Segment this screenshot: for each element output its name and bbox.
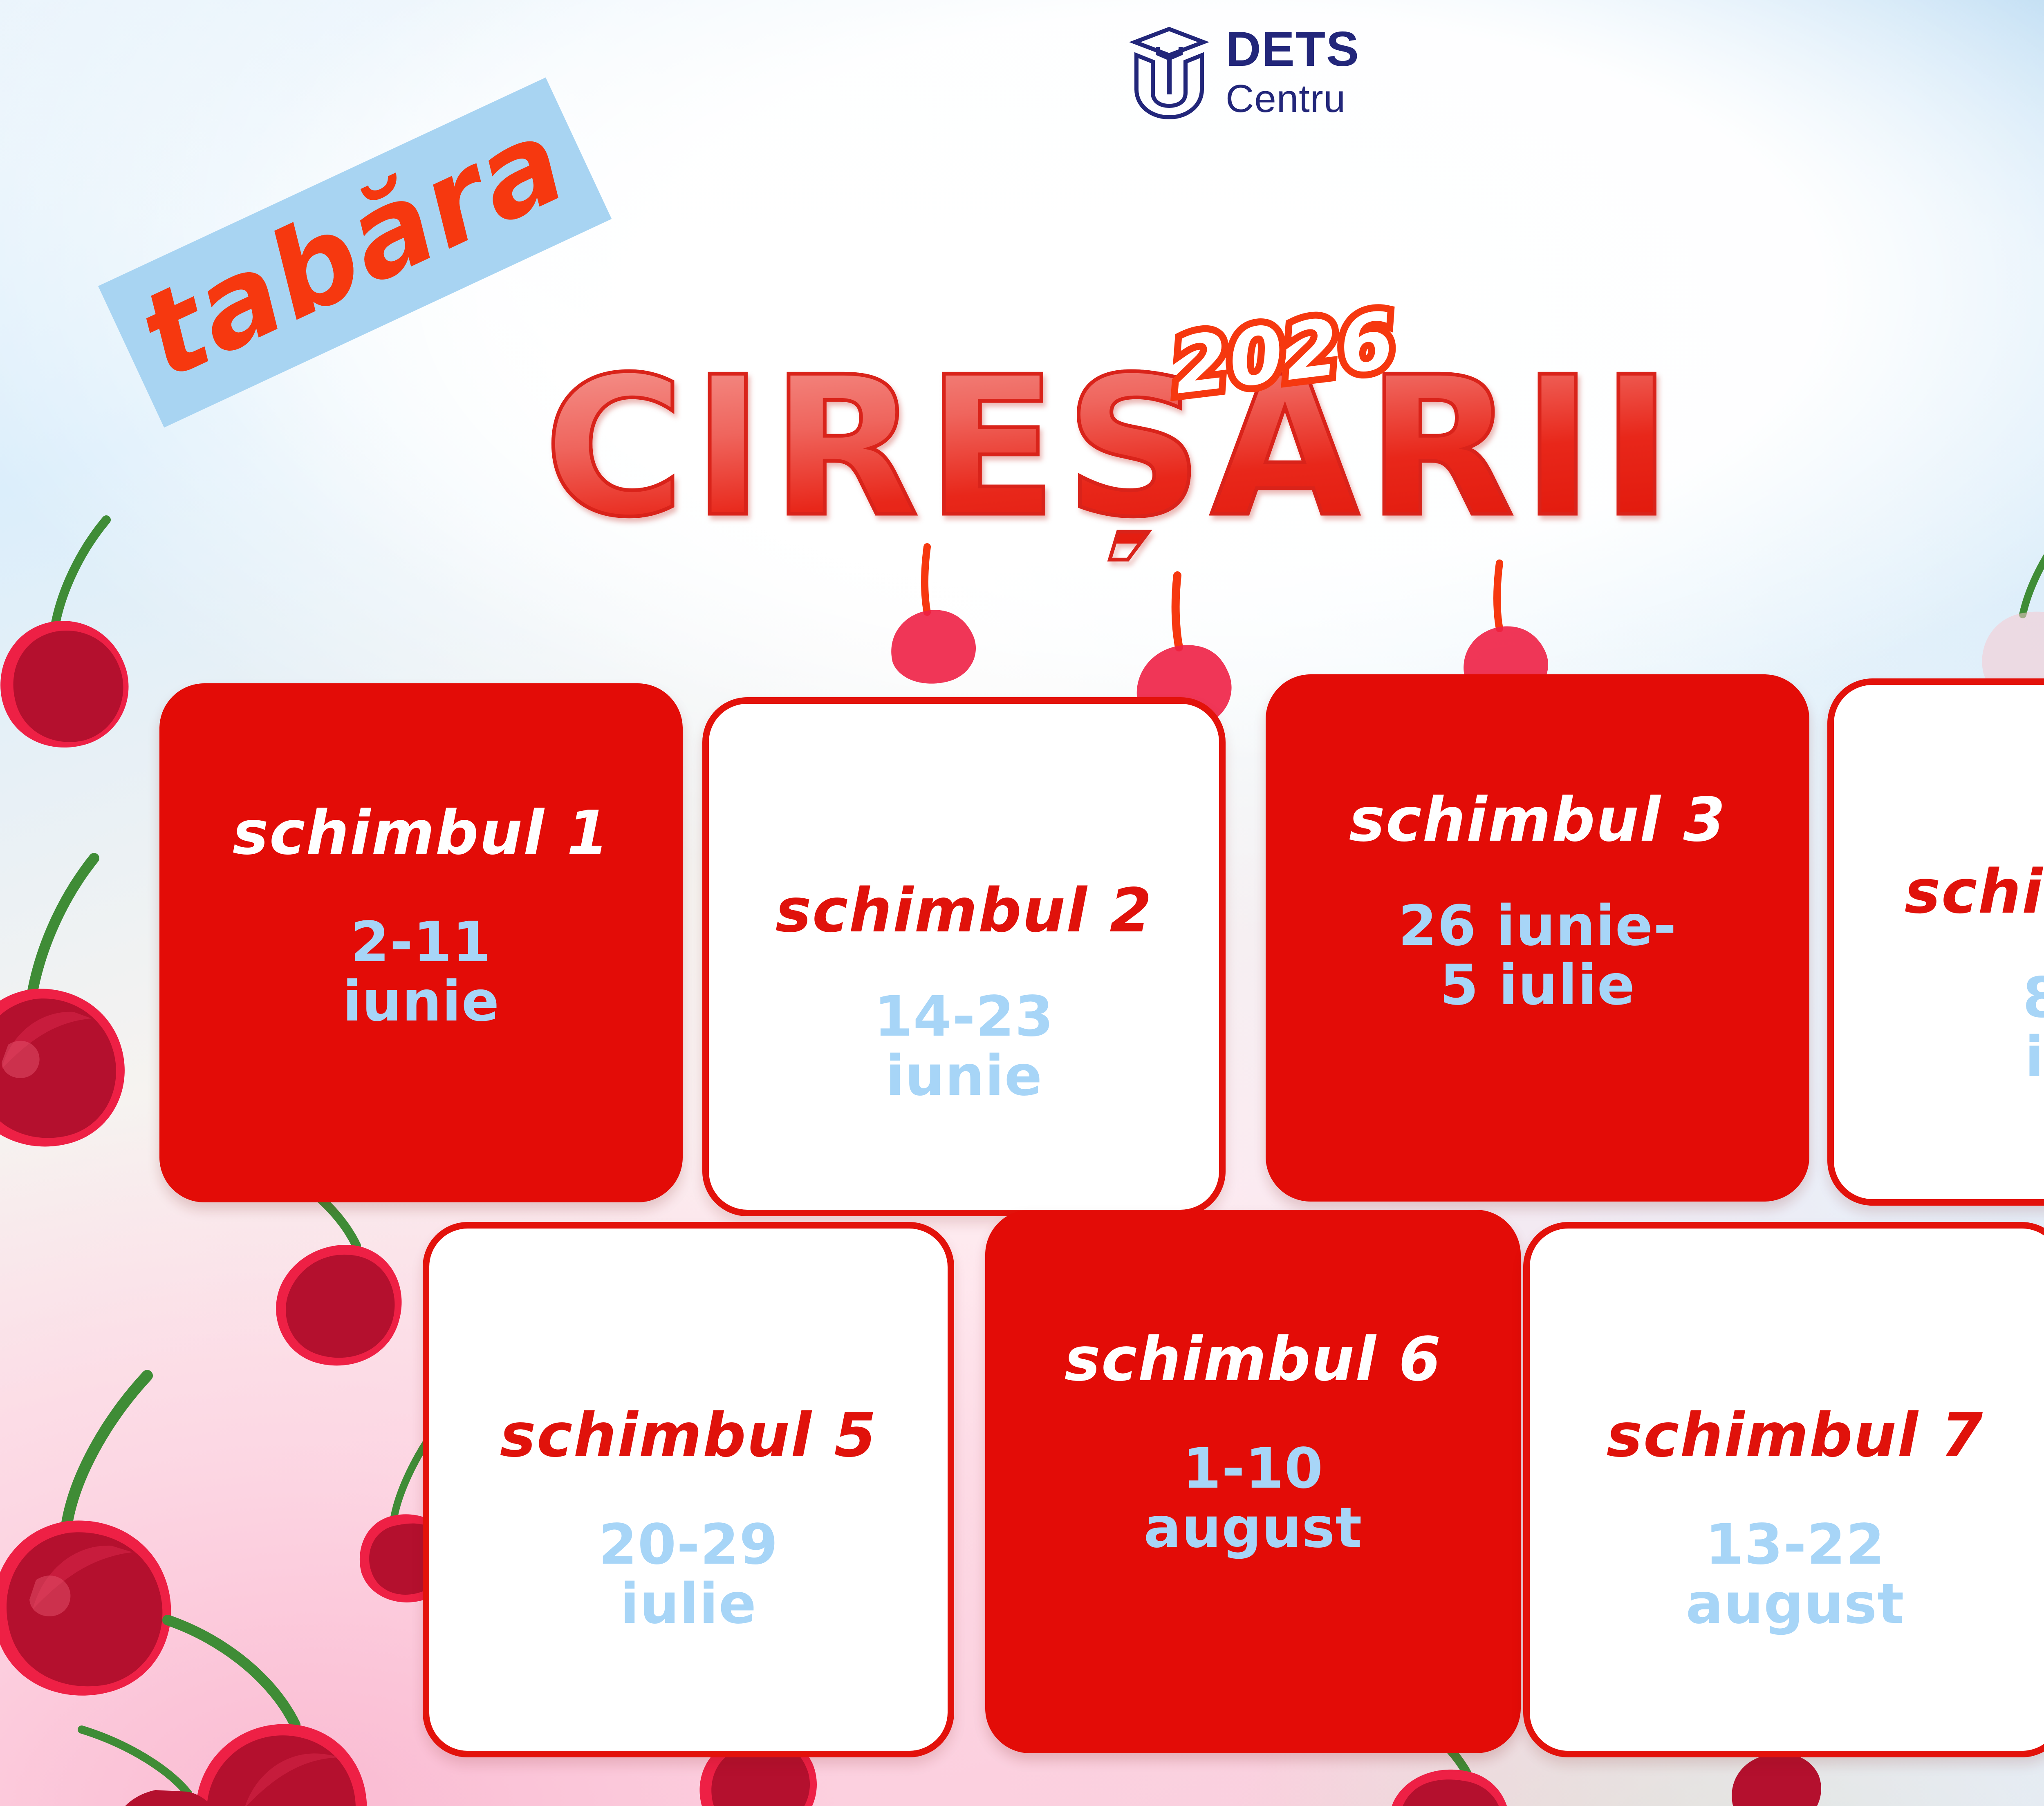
shift-label: schimbul 5 [500, 1404, 877, 1467]
shift-card-6[interactable]: schimbul 6 1-10august [985, 1210, 1521, 1753]
shift-card-2[interactable]: schimbul 2 14-23iunie [702, 697, 1226, 1216]
shift-label: schimbul 2 [775, 880, 1153, 942]
shift-label: schimbul 4 [1905, 861, 2044, 924]
shift-dates: 1-10august [1144, 1439, 1363, 1558]
shift-dates: 2-11iunie [343, 913, 500, 1032]
shift-dates: 13-22august [1686, 1515, 1905, 1634]
shift-dates: 8-17iulie [2023, 969, 2044, 1088]
shift-label: schimbul 7 [1607, 1404, 1984, 1467]
shift-card-7[interactable]: schimbul 7 13-22august [1523, 1222, 2044, 1757]
shift-card-1[interactable]: schimbul 1 2-11iunie [159, 683, 683, 1202]
shift-label: schimbul 3 [1349, 789, 1726, 852]
shift-dates: 26 iunie-5 iulie [1398, 897, 1676, 1016]
shift-card-3[interactable]: schimbul 3 26 iunie-5 iulie [1266, 674, 1809, 1202]
shift-label: schimbul 6 [1065, 1328, 1442, 1391]
shift-dates: 14-23iunie [874, 987, 1054, 1106]
shift-label: schimbul 1 [233, 802, 610, 865]
shift-dates: 20-29iulie [598, 1515, 778, 1634]
shift-card-4[interactable]: schimbul 4 8-17iulie [1827, 678, 2044, 1206]
shift-card-5[interactable]: schimbul 5 20-29iulie [423, 1222, 954, 1757]
